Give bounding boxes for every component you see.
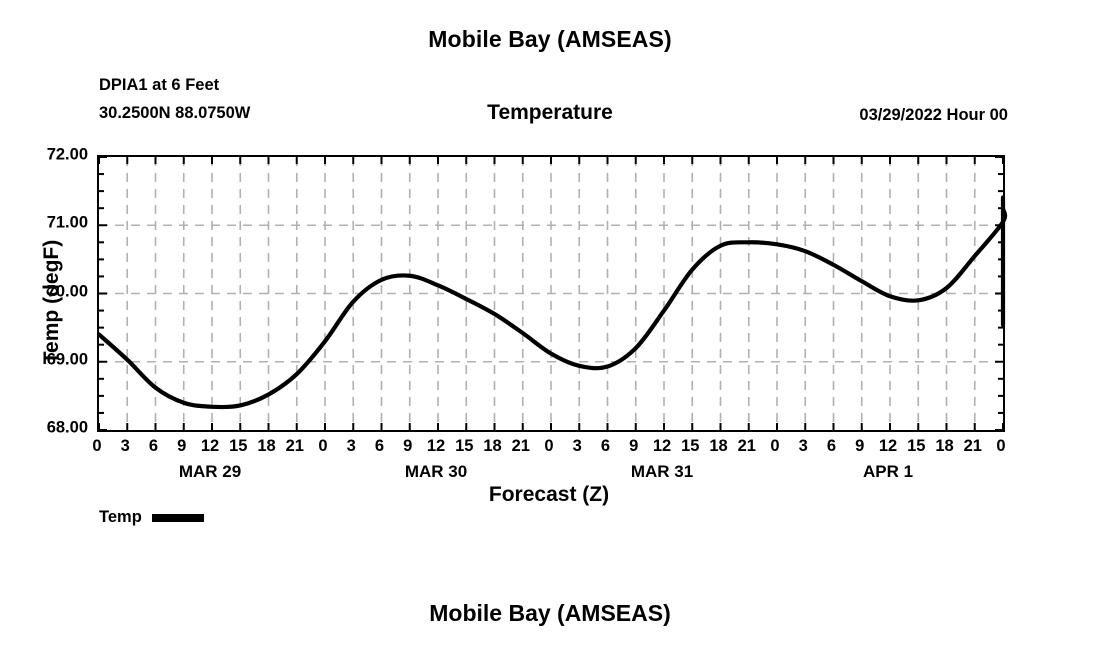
y-tick-label: 70.00 <box>47 282 88 301</box>
y-axis-tick-labels: 68.0069.0070.0071.0072.00 <box>20 155 88 428</box>
x-tick-label: 3 <box>121 437 130 456</box>
model-run-time: 03/29/2022 Hour 00 <box>859 106 1008 125</box>
x-day-label: MAR 30 <box>405 462 467 482</box>
x-tick-label: 21 <box>512 437 530 456</box>
legend-label: Temp <box>99 508 142 527</box>
y-tick-label: 68.00 <box>47 419 88 438</box>
x-tick-label: 6 <box>149 437 158 456</box>
legend: Temp <box>99 508 204 527</box>
x-tick-label: 3 <box>347 437 356 456</box>
x-tick-label: 21 <box>964 437 982 456</box>
x-tick-label: 9 <box>403 437 412 456</box>
x-tick-label: 15 <box>681 437 699 456</box>
y-tick-label: 71.00 <box>47 214 88 233</box>
x-tick-label: 0 <box>770 437 779 456</box>
x-tick-label: 9 <box>629 437 638 456</box>
x-tick-label: 0 <box>92 437 101 456</box>
x-day-label: MAR 31 <box>631 462 693 482</box>
x-tick-label: 0 <box>544 437 553 456</box>
x-tick-label: 0 <box>318 437 327 456</box>
x-tick-label: 12 <box>879 437 897 456</box>
x-tick-label: 12 <box>201 437 219 456</box>
x-tick-label: 9 <box>855 437 864 456</box>
footer-title: Mobile Bay (AMSEAS) <box>0 600 1100 627</box>
y-tick-label: 69.00 <box>47 350 88 369</box>
page-title: Mobile Bay (AMSEAS) <box>0 26 1100 53</box>
station-label: DPIA1 at 6 Feet <box>99 76 219 95</box>
x-tick-label: 12 <box>427 437 445 456</box>
x-tick-label: 21 <box>286 437 304 456</box>
x-day-label: APR 1 <box>863 462 913 482</box>
x-tick-label: 0 <box>996 437 1005 456</box>
y-tick-label: 72.00 <box>47 146 88 165</box>
x-tick-label: 3 <box>799 437 808 456</box>
x-tick-label: 18 <box>935 437 953 456</box>
x-tick-label: 18 <box>709 437 727 456</box>
x-tick-label: 6 <box>601 437 610 456</box>
x-tick-label: 18 <box>483 437 501 456</box>
x-axis-tick-labels: 0369121518210369121518210369121518210369… <box>97 437 1001 459</box>
x-tick-label: 15 <box>229 437 247 456</box>
legend-swatch-temp <box>152 514 204 522</box>
temperature-series-line <box>99 157 1003 430</box>
x-axis-title: Forecast (Z) <box>97 483 1001 507</box>
x-tick-label: 6 <box>375 437 384 456</box>
x-tick-label: 9 <box>177 437 186 456</box>
x-tick-label: 18 <box>257 437 275 456</box>
x-tick-label: 6 <box>827 437 836 456</box>
x-tick-label: 15 <box>455 437 473 456</box>
x-tick-label: 12 <box>653 437 671 456</box>
plot-area <box>97 155 1005 432</box>
x-day-label: MAR 29 <box>179 462 241 482</box>
x-tick-label: 21 <box>738 437 756 456</box>
x-tick-label: 15 <box>907 437 925 456</box>
x-tick-label: 3 <box>573 437 582 456</box>
